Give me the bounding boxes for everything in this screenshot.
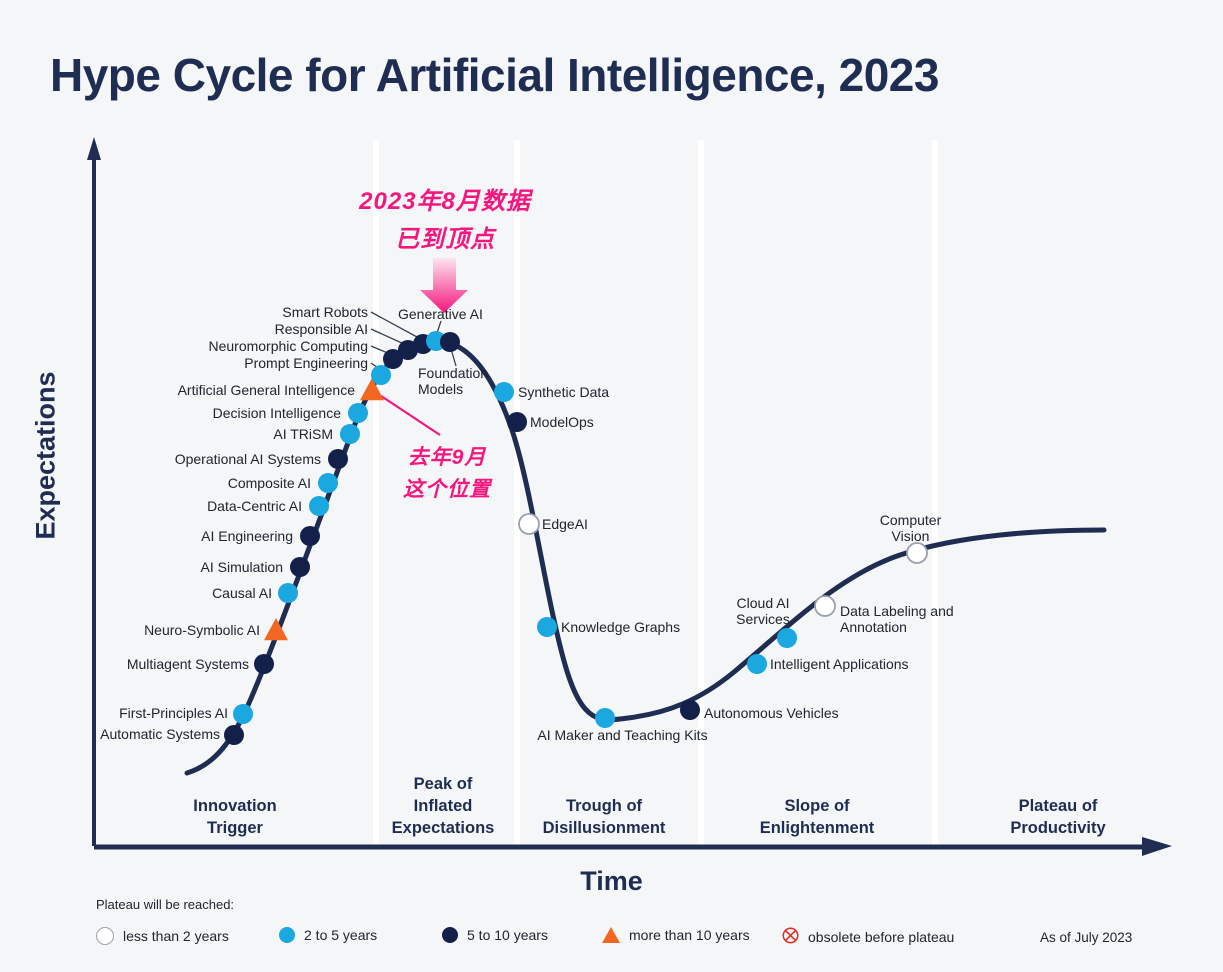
data-point-multiagent-systems[interactable]	[254, 654, 274, 674]
phase-label-plateau-of-productivity: Plateau of Productivity	[963, 795, 1153, 839]
node-label-ai-simulation: AI Simulation	[0, 559, 283, 575]
data-point-composite-ai[interactable]	[318, 473, 338, 493]
phase-line-1: Innovation	[155, 795, 315, 817]
annotation-peak-note: 2023年8月数据 已到顶点	[340, 183, 550, 259]
data-point-ai-maker-and-teaching-kits[interactable]	[595, 708, 615, 728]
legend: less than 2 years 2 to 5 years 5 to 10 y…	[96, 927, 1156, 955]
phase-label-peak-of-inflated-expectations: Peak of Inflated Expectations	[363, 773, 523, 839]
annotation-last-year-line-1: 去年9月	[382, 442, 512, 474]
annotation-last-year-line-2: 这个位置	[382, 474, 512, 506]
legend-item-more-than-10-years[interactable]: more than 10 years	[602, 927, 750, 943]
node-label-edgeai: EdgeAI	[542, 516, 588, 532]
legend-item-obsolete-before-plateau[interactable]: obsolete before plateau	[782, 927, 954, 947]
phase-line-1: Trough of	[509, 795, 699, 817]
legend-title: Plateau will be reached:	[96, 897, 234, 912]
data-point-autonomous-vehicles[interactable]	[680, 700, 700, 720]
legend-label: 2 to 5 years	[304, 927, 377, 943]
data-point-ai-trism[interactable]	[340, 424, 360, 444]
data-point-causal-ai[interactable]	[278, 583, 298, 603]
legend-label: more than 10 years	[629, 927, 750, 943]
node-label-cloud-ai-services: Cloud AI Services	[718, 595, 808, 627]
node-label-intelligent-applications: Intelligent Applications	[770, 656, 909, 672]
phase-line-2: Disillusionment	[509, 817, 699, 839]
node-label-ai-maker-and-teaching-kits: AI Maker and Teaching Kits	[530, 727, 715, 743]
data-point-data-centric-ai[interactable]	[309, 496, 329, 516]
annotation-down-arrow	[420, 258, 468, 313]
data-point-edgeai[interactable]	[519, 514, 539, 534]
node-label-causal-ai: Causal AI	[0, 585, 272, 601]
axes	[87, 137, 1172, 856]
node-label-multiagent-systems: Multiagent Systems	[0, 656, 249, 672]
data-point-foundation-models[interactable]	[440, 332, 460, 352]
node-label-autonomous-vehicles: Autonomous Vehicles	[704, 705, 839, 721]
node-label-generative-ai: Generative AI	[398, 306, 483, 322]
node-label-neuromorphic-computing: Neuromorphic Computing	[0, 338, 368, 354]
phase-line-2: Inflated	[363, 795, 523, 817]
navy-circle-icon	[442, 927, 458, 943]
legend-label: 5 to 10 years	[467, 927, 548, 943]
data-point-cloud-ai-services[interactable]	[777, 628, 797, 648]
phase-label-innovation-trigger: Innovation Trigger	[155, 795, 315, 839]
data-point-data-labeling-and-annotation[interactable]	[815, 596, 835, 616]
data-point-knowledge-graphs[interactable]	[537, 617, 557, 637]
cyan-circle-icon	[279, 927, 295, 943]
legend-label: less than 2 years	[123, 928, 229, 944]
annotation-last-year-note: 去年9月 这个位置	[382, 442, 512, 506]
node-label-automatic-systems: Automatic Systems	[0, 726, 220, 742]
as-of-date: As of July 2023	[1040, 930, 1132, 945]
node-label-artificial-general-intelligence: Artificial General Intelligence	[0, 382, 355, 398]
node-label-modelops: ModelOps	[530, 414, 594, 430]
node-label-composite-ai: Composite AI	[0, 475, 311, 491]
phase-line-3: Expectations	[363, 817, 523, 839]
obsolete-circle-x-icon	[782, 927, 799, 947]
node-label-data-labeling-and-annotation: Data Labeling and Annotation	[840, 603, 955, 635]
data-point-first-principles-ai[interactable]	[233, 704, 253, 724]
data-point-decision-intelligence[interactable]	[348, 403, 368, 423]
hollow-circle-icon	[96, 927, 114, 945]
annotation-peak-line-2: 已到顶点	[340, 221, 550, 259]
data-point-modelops[interactable]	[507, 412, 527, 432]
phase-line-1: Plateau of	[963, 795, 1153, 817]
phase-line-1: Peak of	[363, 773, 523, 795]
node-label-operational-ai-systems: Operational AI Systems	[0, 451, 321, 467]
node-label-smart-robots: Smart Robots	[0, 304, 368, 320]
hype-cycle-chart: Hype Cycle for Artificial Intelligence, …	[0, 0, 1223, 972]
annotation-leader-line	[378, 394, 440, 435]
phase-line-2: Trigger	[155, 817, 315, 839]
data-point-ai-simulation[interactable]	[290, 557, 310, 577]
data-point-computer-vision[interactable]	[907, 543, 927, 563]
orange-triangle-icon	[602, 927, 620, 943]
data-point-automatic-systems[interactable]	[224, 725, 244, 745]
node-label-data-centric-ai: Data-Centric AI	[0, 498, 302, 514]
node-label-foundation-models: Foundation Models	[418, 365, 528, 397]
node-label-computer-vision: Computer Vision	[868, 512, 953, 544]
data-point-operational-ai-systems[interactable]	[328, 449, 348, 469]
data-point-ai-engineering[interactable]	[300, 526, 320, 546]
legend-item-5-to-10-years[interactable]: 5 to 10 years	[442, 927, 548, 943]
data-point-intelligent-applications[interactable]	[747, 654, 767, 674]
node-label-synthetic-data: Synthetic Data	[518, 384, 609, 400]
node-label-responsible-ai: Responsible AI	[0, 321, 368, 337]
phase-line-1: Slope of	[722, 795, 912, 817]
legend-item-less-than-2-years[interactable]: less than 2 years	[96, 927, 229, 945]
node-label-decision-intelligence: Decision Intelligence	[0, 405, 341, 421]
phase-line-2: Productivity	[963, 817, 1153, 839]
node-label-neuro-symbolic-ai: Neuro-Symbolic AI	[0, 622, 260, 638]
node-label-prompt-engineering: Prompt Engineering	[0, 355, 368, 371]
x-axis-title: Time	[0, 866, 1223, 897]
phase-line-2: Enlightenment	[722, 817, 912, 839]
phase-label-trough-of-disillusionment: Trough of Disillusionment	[509, 795, 699, 839]
data-point-prompt-engineering[interactable]	[371, 365, 391, 385]
legend-item-2-to-5-years[interactable]: 2 to 5 years	[279, 927, 377, 943]
node-label-ai-trism: AI TRiSM	[0, 426, 333, 442]
phase-label-slope-of-enlightenment: Slope of Enlightenment	[722, 795, 912, 839]
data-point-neuro-symbolic-ai[interactable]	[264, 618, 288, 640]
node-label-first-principles-ai: First-Principles AI	[0, 705, 228, 721]
node-label-ai-engineering: AI Engineering	[0, 528, 293, 544]
node-label-knowledge-graphs: Knowledge Graphs	[561, 619, 680, 635]
legend-label: obsolete before plateau	[808, 929, 954, 945]
annotation-peak-line-1: 2023年8月数据	[340, 183, 550, 221]
